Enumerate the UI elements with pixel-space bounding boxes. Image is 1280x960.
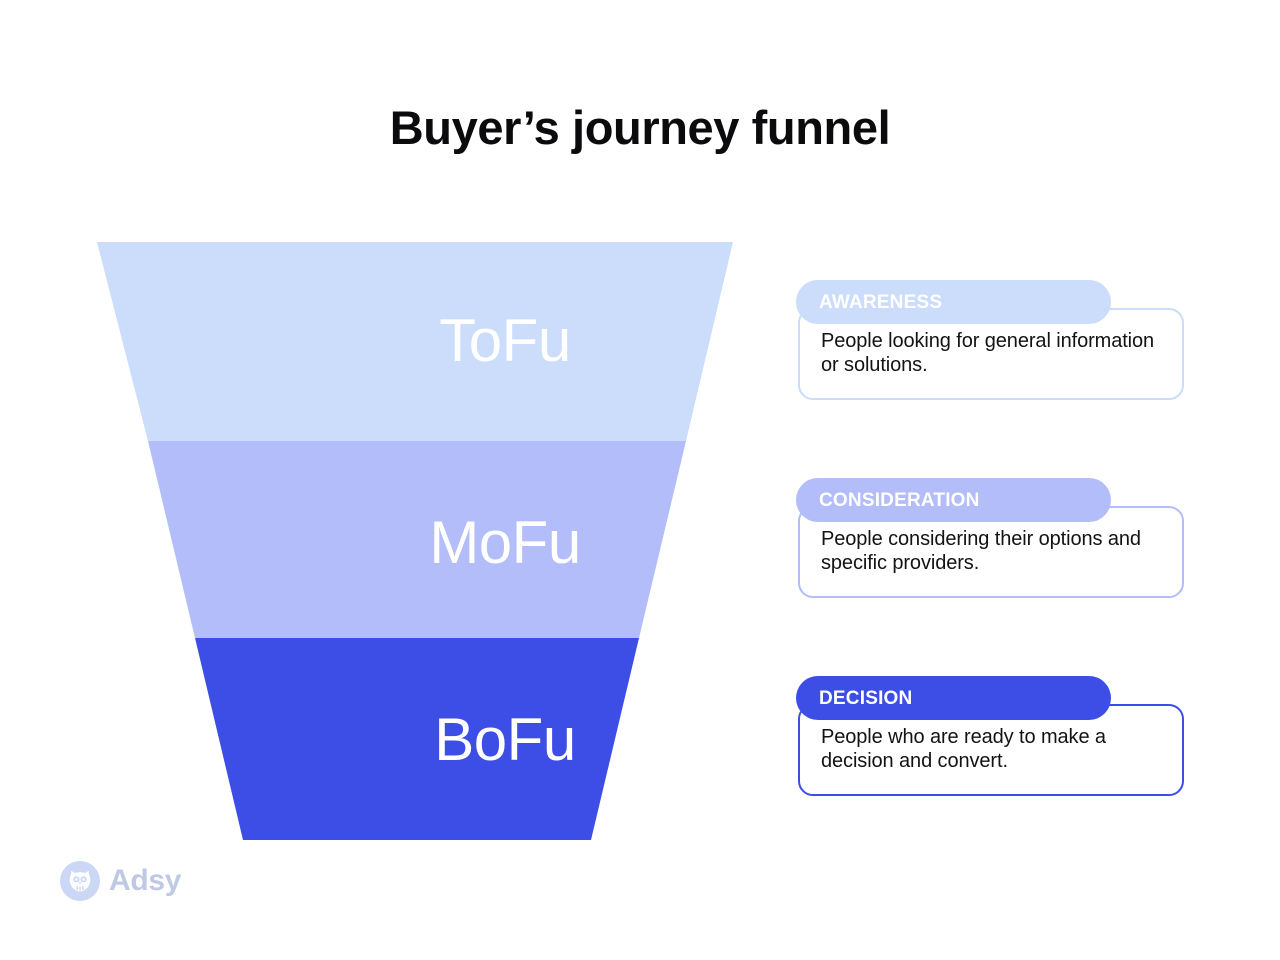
funnel-label-tofu: ToFu bbox=[355, 311, 655, 371]
stage-description-decision: People who are ready to make a decision … bbox=[821, 726, 1162, 773]
stage-title-decision: DECISION bbox=[819, 689, 912, 708]
page-title: Buyer’s journey funnel bbox=[0, 100, 1280, 155]
stage-description-consideration: People considering their options and spe… bbox=[821, 528, 1162, 575]
funnel-diagram: ToFu MoFu BoFu bbox=[90, 238, 740, 846]
brand-logo: Adsy bbox=[60, 861, 181, 901]
brand-name: Adsy bbox=[109, 866, 181, 896]
stage-decision: People who are ready to make a decision … bbox=[796, 676, 1196, 806]
owl-icon bbox=[60, 861, 100, 901]
stage-pill-consideration: CONSIDERATION bbox=[796, 478, 1111, 522]
funnel-label-bofu: BoFu bbox=[355, 710, 655, 770]
stage-awareness: People looking for general information o… bbox=[796, 280, 1196, 410]
funnel-label-mofu: MoFu bbox=[355, 513, 655, 573]
stage-pill-decision: DECISION bbox=[796, 676, 1111, 720]
stage-pill-awareness: AWARENESS bbox=[796, 280, 1111, 324]
stage-description-awareness: People looking for general information o… bbox=[821, 330, 1162, 377]
stage-list: People looking for general information o… bbox=[796, 280, 1196, 806]
stage-consideration: People considering their options and spe… bbox=[796, 478, 1196, 608]
stage-title-consideration: CONSIDERATION bbox=[819, 491, 980, 510]
stage-title-awareness: AWARENESS bbox=[819, 293, 942, 312]
